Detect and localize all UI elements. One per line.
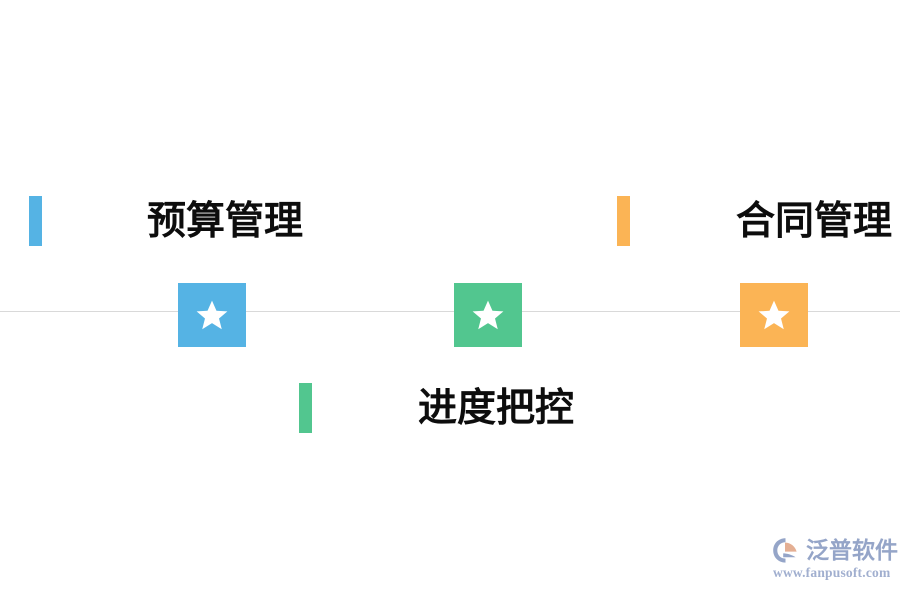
slide-canvas: 预算管理 进度把控 合同管理 泛普软件 www.fanpusoft.com: [0, 0, 900, 600]
milestone-marker-progress[interactable]: [454, 283, 522, 347]
milestone-label-budget: 预算管理: [147, 202, 303, 241]
watermark-url: www.fanpusoft.com: [773, 565, 890, 581]
star-icon: [471, 298, 505, 332]
star-icon: [195, 298, 229, 332]
watermark-brand-row: 泛普软件: [772, 537, 898, 564]
watermark: 泛普软件 www.fanpusoft.com: [772, 537, 898, 581]
milestone-label-progress: 进度把控: [418, 389, 574, 428]
accent-bar-budget: [29, 196, 42, 246]
fanpu-logo-icon: [772, 537, 802, 564]
star-icon: [757, 298, 791, 332]
watermark-brand-name: 泛普软件: [806, 539, 898, 562]
milestone-label-contract: 合同管理: [736, 202, 892, 241]
milestone-marker-contract[interactable]: [740, 283, 808, 347]
milestone-marker-budget[interactable]: [178, 283, 246, 347]
accent-bar-progress: [299, 383, 312, 433]
accent-bar-contract: [617, 196, 630, 246]
